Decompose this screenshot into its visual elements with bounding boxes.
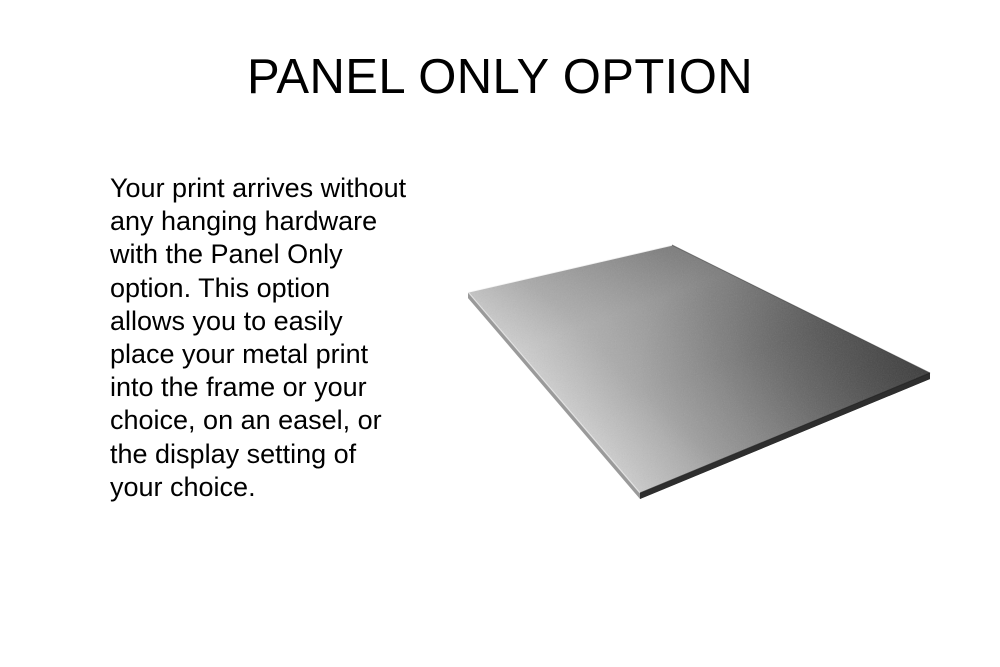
description-text-block: Your print arrives without any hanging h… [110, 172, 410, 504]
description-paragraph: Your print arrives without any hanging h… [110, 172, 410, 504]
slide-canvas: PANEL ONLY OPTION Your print arrives wit… [0, 0, 1000, 667]
panel-face [440, 225, 960, 525]
metal-panel-figure [440, 225, 960, 525]
page-title: PANEL ONLY OPTION [0, 52, 1000, 104]
metal-panel-illustration [440, 225, 960, 525]
